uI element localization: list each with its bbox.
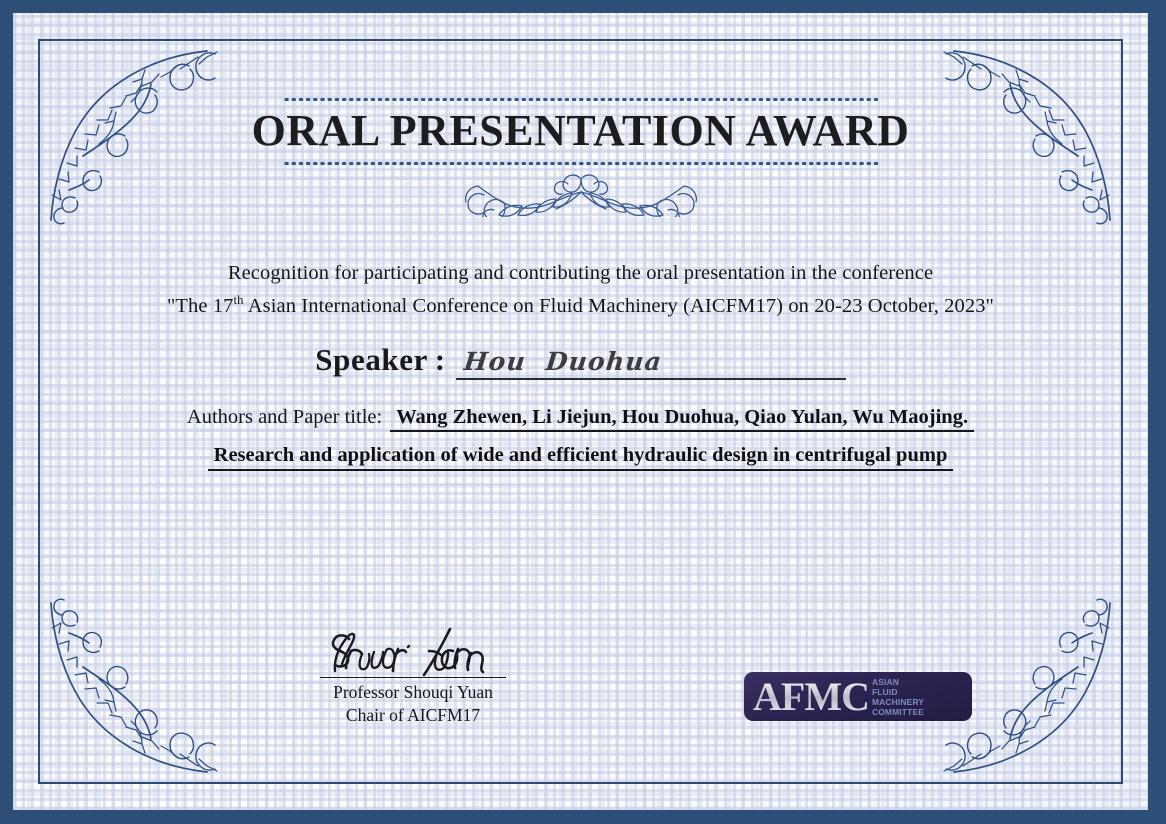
authors-row: Authors and Paper title: Wang Zhewen, Li… xyxy=(13,406,1148,432)
certificate-document: ORAL PRESENTATION AWARD xyxy=(0,0,1166,824)
paper-title-row: Research and application of wide and eff… xyxy=(13,432,1148,471)
conference-line-prefix: "The 17 xyxy=(167,295,234,317)
speaker-label: Speaker : xyxy=(315,342,445,380)
afmc-subtitle-line-3: MACHINERY xyxy=(872,697,924,707)
signature-block: Professor Shouqi Yuan Chair of AICFM17 xyxy=(285,625,541,727)
ordinal-suffix: th xyxy=(234,294,244,308)
paper-title: Research and application of wide and eff… xyxy=(208,444,954,471)
authors-value: Wang Zhewen, Li Jiejun, Hou Duohua, Qiao… xyxy=(390,406,974,432)
conference-line: "The 17th Asian International Conference… xyxy=(13,290,1148,323)
afmc-subtitle: ASIAN FLUID MACHINERY COMMITTEE xyxy=(872,676,924,718)
recognition-text-block: Recognition for participating and contri… xyxy=(13,257,1148,323)
afmc-subtitle-line-1: ASIAN xyxy=(872,677,924,687)
afmc-wordmark: AFMC xyxy=(744,677,869,717)
speaker-name-field: Hou Duohua xyxy=(456,344,846,380)
recognition-line-1: Recognition for participating and contri… xyxy=(13,257,1148,290)
signatory-name: Professor Shouqi Yuan xyxy=(285,681,541,704)
conference-line-suffix: Asian International Conference on Fluid … xyxy=(244,295,994,317)
afmc-logo: AFMC ASIAN FLUID MACHINERY COMMITTEE xyxy=(744,672,972,721)
corner-flourish-bottom-left-icon xyxy=(39,598,239,783)
divider-ornament-icon xyxy=(456,173,706,217)
signature-handwritten xyxy=(285,625,541,677)
speaker-name-handwritten: Hou Duohua xyxy=(462,347,663,376)
dotted-rule-above-title xyxy=(283,97,879,102)
dotted-rule-below-title xyxy=(283,161,879,166)
signature-rule xyxy=(320,677,506,678)
speaker-row: Speaker : Hou Duohua xyxy=(13,342,1148,380)
afmc-subtitle-line-2: FLUID xyxy=(872,687,924,697)
afmc-subtitle-line-4: COMMITTEE xyxy=(872,707,924,717)
signatory-role: Chair of AICFM17 xyxy=(285,704,541,727)
authors-label: Authors and Paper title: xyxy=(187,406,382,429)
certificate-content: ORAL PRESENTATION AWARD xyxy=(13,13,1148,471)
page-title: ORAL PRESENTATION AWARD xyxy=(13,106,1148,155)
certificate-paper-surface: ORAL PRESENTATION AWARD xyxy=(13,13,1148,810)
